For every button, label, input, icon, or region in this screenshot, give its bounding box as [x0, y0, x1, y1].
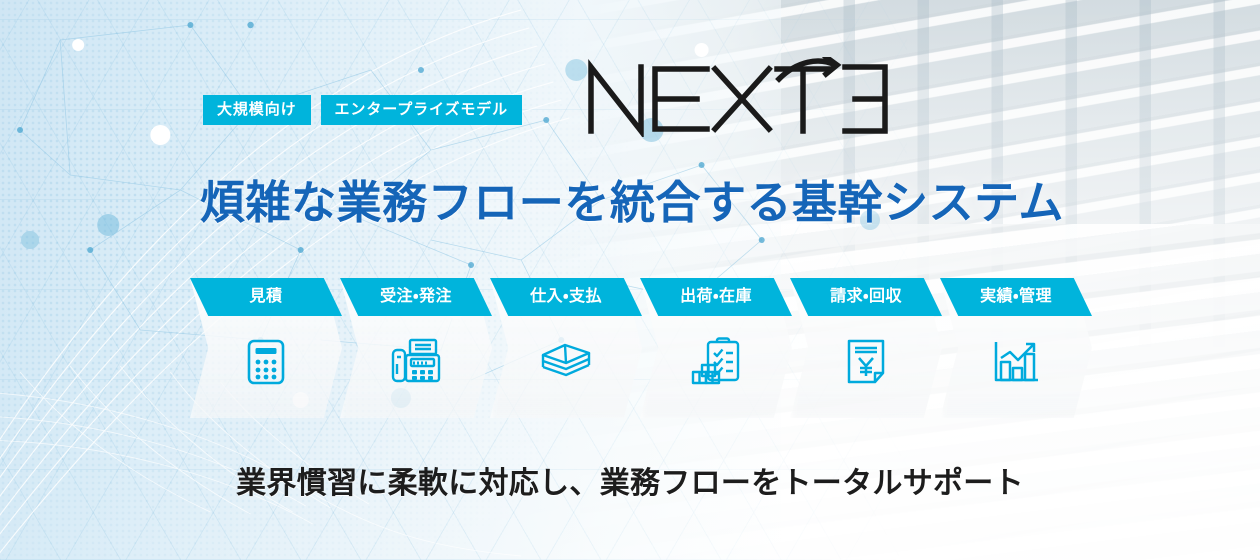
workflow-steps: 見積 受注・発注: [190, 278, 1090, 418]
clipboard-checklist-boxes-icon: [640, 322, 792, 402]
badge-group: 大規模向け エンタープライズモデル: [203, 95, 522, 125]
step-estimate[interactable]: 見積: [190, 278, 342, 418]
step-label: 仕入・支払: [530, 289, 602, 305]
step-label: 実績・管理: [980, 289, 1052, 305]
page-title: 煩雑な業務フローを統合する基幹システム: [200, 176, 1064, 229]
bar-chart-trend-icon: [940, 322, 1092, 402]
badge-large-scale[interactable]: 大規模向け: [203, 95, 311, 125]
step-header: 受注・発注: [340, 278, 492, 316]
step-label: 受注・発注: [380, 289, 452, 305]
step-label: 見積: [250, 289, 283, 305]
step-label: 出荷・在庫: [680, 289, 752, 305]
step-header: 実績・管理: [940, 278, 1092, 316]
step-header: 仕入・支払: [490, 278, 642, 316]
cash-stack-icon: [490, 322, 642, 402]
step-label: 請求・回収: [830, 289, 902, 305]
hero-banner: 大規模向け エンタープライズモデル NEXT∋ 煩雑な業務フローを統合する基幹シ…: [0, 0, 1260, 560]
step-header: 出荷・在庫: [640, 278, 792, 316]
calculator-icon: [190, 322, 342, 402]
step-billing-collection[interactable]: 請求・回収: [790, 278, 942, 418]
step-supply-payment[interactable]: 仕入・支払: [490, 278, 642, 418]
next3-logo: NEXT∋: [583, 57, 893, 137]
badge-enterprise-model[interactable]: エンタープライズモデル: [321, 95, 523, 125]
step-performance-management[interactable]: 実績・管理: [940, 278, 1092, 418]
badge-label: エンタープライズモデル: [335, 101, 509, 118]
step-header: 請求・回収: [790, 278, 942, 316]
badge-label: 大規模向け: [217, 101, 297, 118]
yen-invoice-icon: [790, 322, 942, 402]
step-header: 見積: [190, 278, 342, 316]
step-shipping-inventory[interactable]: 出荷・在庫: [640, 278, 792, 418]
fax-machine-icon: [340, 322, 492, 402]
tagline: 業界慣習に柔軟に対応し、業務フローをトータルサポート: [0, 458, 1260, 502]
step-order-purchase[interactable]: 受注・発注: [340, 278, 492, 418]
